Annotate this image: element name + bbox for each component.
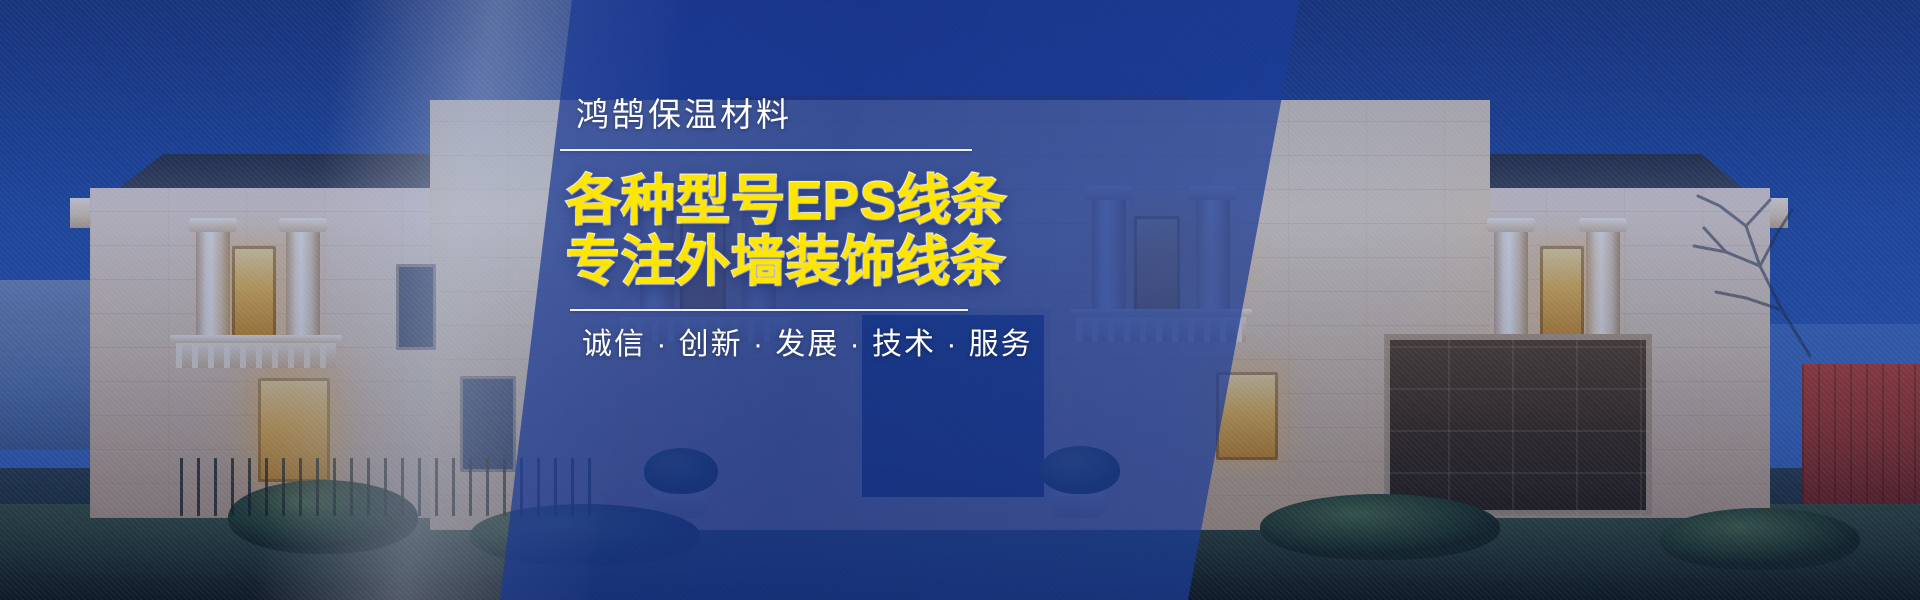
brand-name: 鸿鹄保温材料 <box>576 96 1030 135</box>
divider-bottom <box>570 309 968 311</box>
tagline: 诚信 · 创新 · 发展 · 技术 · 服务 <box>582 327 1030 363</box>
divider-top <box>560 149 972 151</box>
banner-content: 鸿鹄保温材料 各种型号EPS线条 专注外墙装饰线条 诚信 · 创新 · 发展 ·… <box>560 96 1030 363</box>
headline-line-1: 各种型号EPS线条 <box>566 171 1030 232</box>
hero-banner: 鸿鹄保温材料 各种型号EPS线条 专注外墙装饰线条 诚信 · 创新 · 发展 ·… <box>0 0 1920 600</box>
headline: 各种型号EPS线条 专注外墙装饰线条 <box>566 171 1030 293</box>
headline-line-2: 专注外墙装饰线条 <box>566 232 1030 293</box>
